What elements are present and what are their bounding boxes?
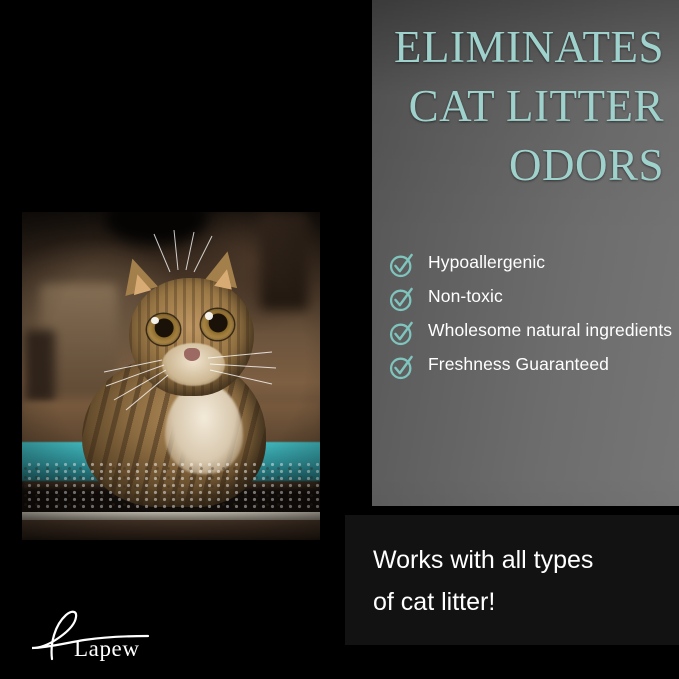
kitten-photo (22, 212, 320, 540)
benefit-item-hypoallergenic: Hypoallergenic (388, 250, 673, 279)
callout-panel: Works with all types of cat litter! (345, 515, 679, 645)
litter-tray-base (22, 520, 320, 540)
benefits-list: Hypoallergenic Non-toxic Wholesome natur… (388, 250, 673, 386)
brand-logo: Lapew (22, 603, 172, 665)
benefit-label: Wholesome natural ingredients (428, 318, 672, 343)
logo-wordmark: Lapew (74, 636, 140, 662)
check-circle-icon (388, 251, 416, 279)
headline: ELIMINATES CAT LITTER ODORS (282, 18, 664, 195)
advertisement-canvas: ELIMINATES CAT LITTER ODORS Hypoallergen… (0, 0, 679, 679)
photo-scene (22, 212, 320, 540)
cat-litter-texture (22, 461, 320, 517)
callout-text: Works with all types of cat litter! (373, 539, 663, 623)
benefit-label: Freshness Guaranteed (428, 352, 609, 377)
benefit-label: Non-toxic (428, 284, 503, 309)
benefit-item-wholesome-natural-ingredients: Wholesome natural ingredients (388, 318, 673, 347)
check-circle-icon (388, 319, 416, 347)
benefit-item-non-toxic: Non-toxic (388, 284, 673, 313)
check-circle-icon (388, 353, 416, 381)
benefit-label: Hypoallergenic (428, 250, 545, 275)
benefit-item-freshness-guaranteed: Freshness Guaranteed (388, 352, 673, 381)
check-circle-icon (388, 285, 416, 313)
